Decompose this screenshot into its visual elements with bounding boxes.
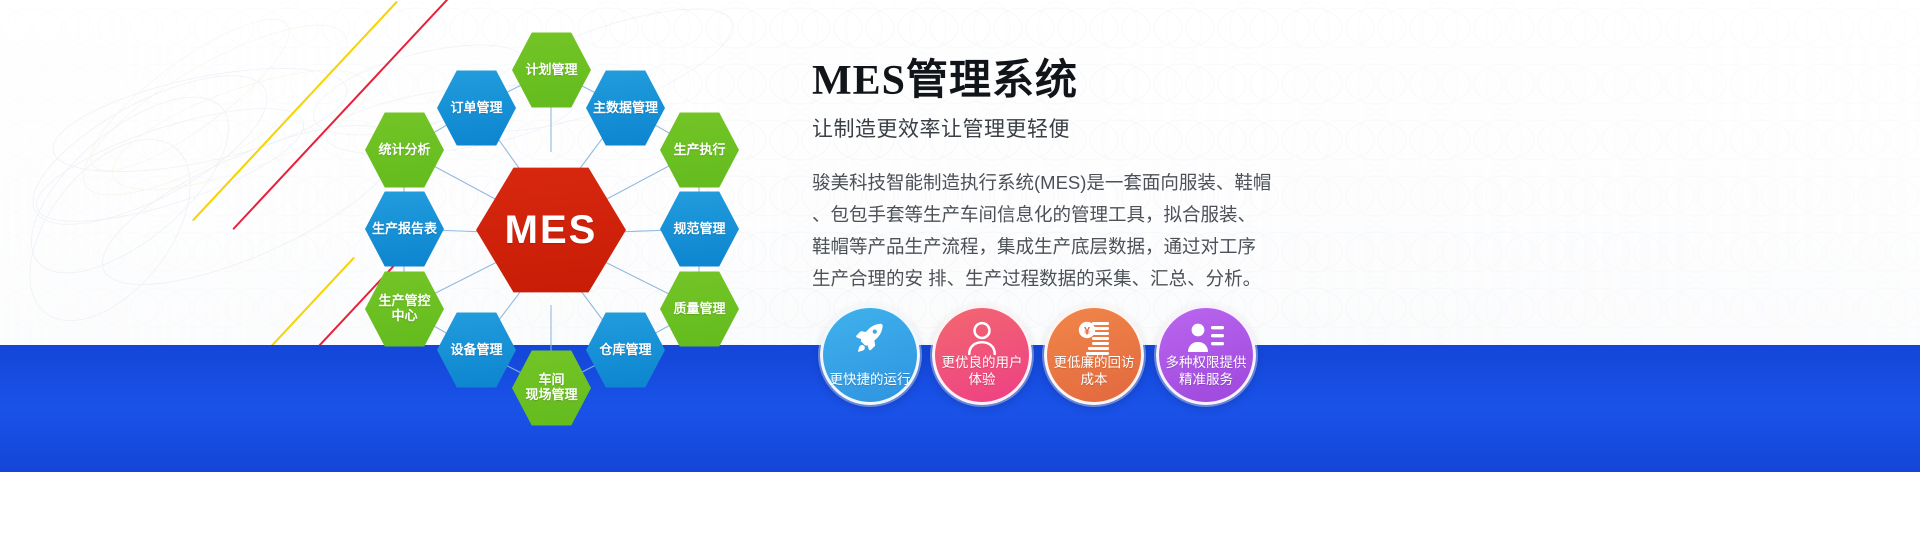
diagram-node-label: 主数据管理	[589, 101, 662, 116]
diagram-node-label: 生产管控 中心	[374, 294, 434, 323]
feature-badge-low-cost[interactable]: ¥ 更低廉的回访 成本	[1044, 305, 1144, 405]
feature-badge-label: 更低廉的回访 成本	[1054, 354, 1135, 389]
diagram-node-7[interactable]: 设备管理	[437, 311, 516, 389]
page-title: MES管理系统	[812, 58, 1282, 104]
feature-badge-label: 多种权限提供 精准服务	[1166, 354, 1247, 389]
diagram-node-8[interactable]: 生产管控 中心	[365, 270, 444, 348]
feature-badge-fast-operation[interactable]: 更快捷的运行	[820, 305, 920, 405]
background-bottom-white	[0, 472, 1920, 550]
hero-text-block: MES管理系统 让制造更效率让管理更轻便 骏美科技智能制造执行系统(MES)是一…	[812, 58, 1282, 294]
diagram-node-11[interactable]: 订单管理	[437, 69, 516, 147]
diagram-node-9[interactable]: 生产报告表	[365, 190, 444, 268]
diagram-node-1[interactable]: 主数据管理	[586, 69, 665, 147]
diagram-center-label: MES	[501, 208, 602, 253]
diagram-node-2[interactable]: 生产执行	[660, 111, 739, 189]
diagram-node-label: 仓库管理	[595, 343, 655, 358]
diagram-node-label: 生产执行	[669, 143, 729, 158]
diagram-node-label: 车间 现场管理	[521, 373, 581, 402]
diagram-node-label: 质量管理	[669, 302, 729, 317]
diagram-center-node[interactable]: MES	[476, 165, 626, 295]
hero-description-line: 骏美科技智能制造执行系统(MES)是一套面向服装、鞋帽	[812, 167, 1282, 199]
swirl-texture	[0, 0, 900, 345]
feature-badge-label: 更快捷的运行	[830, 371, 911, 389]
diagram-node-0[interactable]: 计划管理	[512, 31, 591, 109]
feature-badge-user-experience[interactable]: 更优良的用户 体验	[932, 305, 1032, 405]
diagram-node-10[interactable]: 统计分析	[365, 111, 444, 189]
diagram-node-label: 生产报告表	[368, 222, 441, 237]
hero-description-line: 生产合理的安 排、生产过程数据的采集、汇总、分析。	[812, 263, 1282, 295]
diagram-node-label: 计划管理	[521, 63, 581, 78]
diagram-node-4[interactable]: 质量管理	[660, 270, 739, 348]
hero-description-line: 、包包手套等生产车间信息化的管理工具，拟合服装、	[812, 199, 1282, 231]
diagram-node-3[interactable]: 规范管理	[660, 190, 739, 268]
diagram-node-label: 统计分析	[374, 143, 434, 158]
coins-icon: ¥	[1047, 321, 1141, 355]
svg-text:¥: ¥	[1084, 325, 1091, 337]
diagram-node-label: 订单管理	[446, 101, 506, 116]
diagram-node-label: 设备管理	[446, 343, 506, 358]
diagram-node-6[interactable]: 车间 现场管理	[512, 349, 591, 427]
feature-badge-permissions[interactable]: 多种权限提供 精准服务	[1156, 305, 1256, 405]
feature-badge-label: 更优良的用户 体验	[942, 354, 1023, 389]
banner-stage: MES 计划管理 主数据管理 生产执行 规范管理 质量管理 仓库管理 车间 现场…	[0, 0, 1920, 550]
hero-description: 骏美科技智能制造执行系统(MES)是一套面向服装、鞋帽 、包包手套等生产车间信息…	[812, 167, 1282, 294]
feature-badge-group: 更快捷的运行 更优良的用户 体验	[820, 305, 1280, 405]
page-subtitle: 让制造更效率让管理更轻便	[812, 113, 1282, 143]
hero-description-line: 鞋帽等产品生产流程，集成生产底层数据，通过对工序	[812, 231, 1282, 263]
permissions-icon	[1159, 321, 1253, 353]
rocket-icon	[823, 321, 917, 355]
diagram-node-5[interactable]: 仓库管理	[586, 311, 665, 389]
user-icon	[935, 321, 1029, 355]
diagram-node-label: 规范管理	[669, 222, 729, 237]
